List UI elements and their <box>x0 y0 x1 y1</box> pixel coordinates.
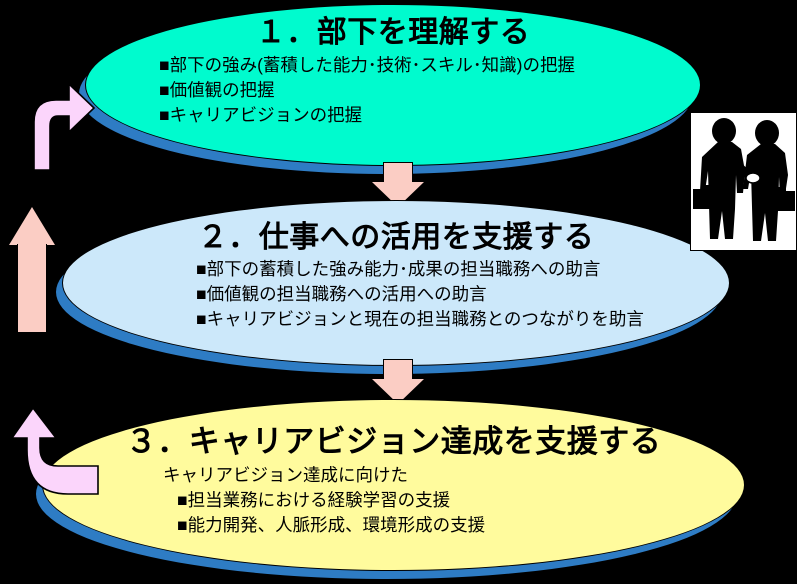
up-arrow-feedback <box>6 203 58 333</box>
step-3-bullet-2: ■能力開発、人脈形成、環境形成の支援 <box>177 513 485 538</box>
step-1-bullet-1: ■部下の強み(蓄積した能力･技術･スキル･知識)の把握 <box>159 53 575 78</box>
handshake-silhouette-icon <box>691 113 796 250</box>
handshake-silhouette-photo <box>690 112 797 251</box>
step-2-bullet-2: ■価値観の担当職務への活用への助言 <box>196 282 644 307</box>
curved-arrow-into-step1 <box>14 82 96 170</box>
step-3-ellipse[interactable]: ３．キャリアビジョン達成を支援する キャリアビジョン達成に向けた ■担当業務にお… <box>42 399 745 571</box>
up-arrow-head <box>9 207 55 245</box>
step-1-title: １．部下を理解する <box>256 17 531 49</box>
diagram-canvas: １．部下を理解する ■部下の強み(蓄積した能力･技術･スキル･知識)の把握 ■価… <box>0 0 797 584</box>
step-2-title: ２．仕事への活用を支援する <box>198 222 595 254</box>
curved-arrow-from-step3 <box>10 404 100 496</box>
step-3-ellipse-body: ３．キャリアビジョン達成を支援する キャリアビジョン達成に向けた ■担当業務にお… <box>42 399 745 571</box>
step-3-lead-line: キャリアビジョン達成に向けた <box>163 463 485 488</box>
step-3-bullet-list: キャリアビジョン達成に向けた ■担当業務における経験学習の支援 ■能力開発、人脈… <box>163 463 485 538</box>
step-1-ellipse[interactable]: １．部下を理解する ■部下の強み(蓄積した能力･技術･スキル･知識)の把握 ■価… <box>85 4 701 166</box>
step-1-ellipse-body: １．部下を理解する ■部下の強み(蓄積した能力･技術･スキル･知識)の把握 ■価… <box>85 4 701 166</box>
step-3-bullet-1: ■担当業務における経験学習の支援 <box>177 488 485 513</box>
up-arrow-stem <box>17 244 47 333</box>
step-1-bullet-list: ■部下の強み(蓄積した能力･技術･スキル･知識)の把握 ■価値観の把握 ■キャリ… <box>159 53 575 128</box>
step-2-bullet-list: ■部下の蓄積した強み能力･成果の担当職務への助言 ■価値観の担当職務への活用への… <box>196 257 644 332</box>
down-arrow-2-stem <box>383 359 413 381</box>
step-3-title: ３．キャリアビジョン達成を支援する <box>126 426 662 459</box>
step-1-bullet-2: ■価値観の把握 <box>159 78 575 103</box>
step-2-bullet-3: ■キャリアビジョンと現在の担当職務とのつながりを助言 <box>196 307 644 332</box>
step-2-bullet-1: ■部下の蓄積した強み能力･成果の担当職務への助言 <box>196 257 644 282</box>
step-1-bullet-3: ■キャリアビジョンの把握 <box>159 103 575 128</box>
step-2-ellipse-body: ２．仕事への活用を支援する ■部下の蓄積した強み能力･成果の担当職務への助言 ■… <box>62 200 730 366</box>
down-arrow-1-stem <box>383 162 413 184</box>
step-2-ellipse[interactable]: ２．仕事への活用を支援する ■部下の蓄積した強み能力･成果の担当職務への助言 ■… <box>62 200 730 366</box>
